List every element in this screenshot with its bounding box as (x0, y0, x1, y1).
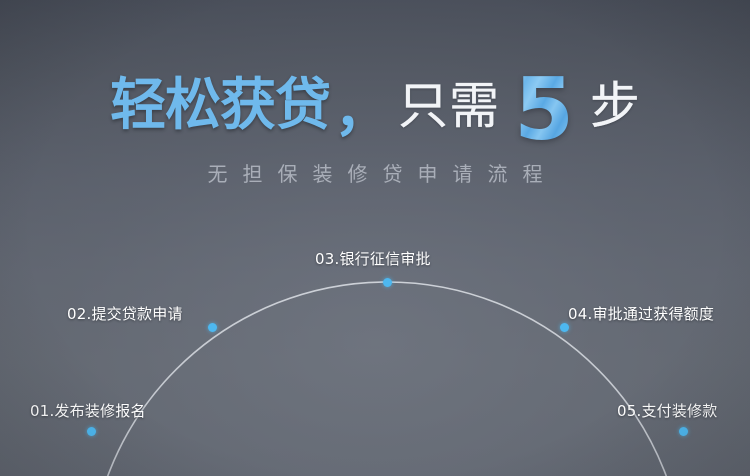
step-label-05[interactable]: 05.支付装修款 (617, 400, 717, 421)
step-node-03[interactable] (383, 278, 392, 287)
step-node-02[interactable] (208, 323, 217, 332)
step-label-01[interactable]: 01.发布装修报名 (30, 400, 146, 421)
step-label-03[interactable]: 03.银行征信审批 (315, 248, 431, 269)
step-node-05[interactable] (679, 427, 688, 436)
step-node-04[interactable] (560, 323, 569, 332)
step-node-01[interactable] (87, 427, 96, 436)
step-label-04[interactable]: 04.审批通过获得额度 (568, 303, 714, 324)
banner-canvas: 轻松获贷 ， 只需 5 步 无担保装修贷申请流程 01.发布装修报名02.提交贷… (0, 0, 750, 476)
step-label-02[interactable]: 02.提交贷款申请 (67, 303, 183, 324)
process-flow: 01.发布装修报名02.提交贷款申请03.银行征信审批04.审批通过获得额度05… (0, 0, 750, 476)
